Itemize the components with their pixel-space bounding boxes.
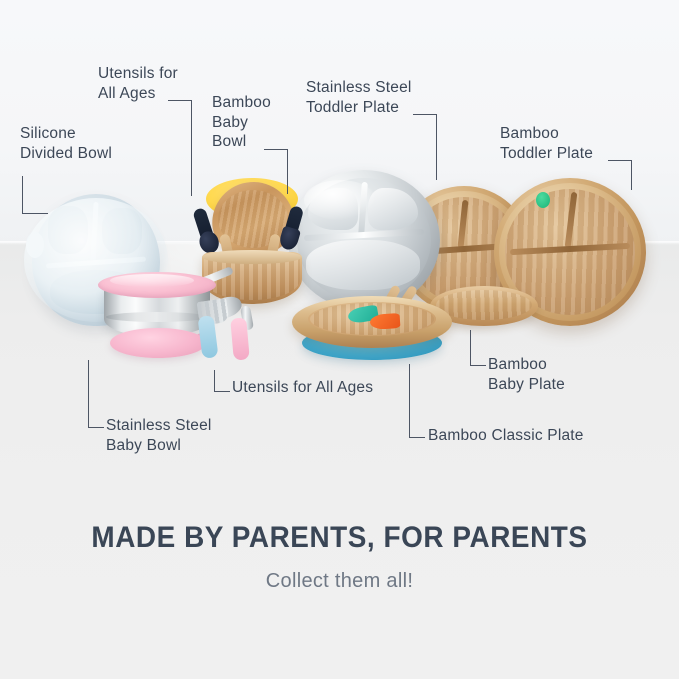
bamboo-bowl-rim [202, 250, 302, 264]
label-utensils-all-ages-top: Utensils for All Ages [98, 64, 178, 103]
leader-bamboo-classic-plate [409, 364, 425, 438]
leader-bamboo-toddler-plate [608, 160, 632, 190]
plate-highlight [304, 180, 376, 220]
leader-utensils-all-ages-bottom [214, 370, 230, 392]
lid-highlight [110, 274, 194, 287]
leader-stainless-steel-toddler-plate [413, 114, 437, 180]
label-silicone-divided-bowl: Silicone Divided Bowl [20, 124, 112, 163]
label-bamboo-classic-plate: Bamboo Classic Plate [428, 426, 584, 446]
label-bamboo-baby-bowl: Bamboo Baby Bowl [212, 93, 271, 152]
orange-spoon-tip [370, 313, 401, 330]
plate-compartment-bottom [306, 240, 420, 290]
label-utensils-all-ages-bottom: Utensils for All Ages [232, 378, 373, 398]
product-utensils-for-all-ages [198, 300, 310, 362]
bowl-steel-reflection [106, 312, 208, 322]
footer-headline: MADE BY PARENTS, FOR PARENTS [24, 521, 655, 555]
product-infographic: Silicone Divided Bowl Utensils for All A… [0, 0, 679, 679]
leader-silicone-divided-bowl [22, 176, 48, 214]
label-stainless-steel-baby-bowl: Stainless Steel Baby Bowl [106, 416, 212, 455]
leader-utensils-all-ages-top [168, 100, 192, 196]
leader-stainless-steel-baby-bowl [88, 360, 104, 428]
green-silicone-tab [536, 192, 550, 208]
label-bamboo-toddler-plate: Bamboo Toddler Plate [500, 124, 593, 163]
label-stainless-steel-toddler-plate: Stainless Steel Toddler Plate [306, 78, 412, 117]
label-bamboo-baby-plate: Bamboo Baby Plate [488, 355, 565, 394]
product-bamboo-classic-plate [292, 296, 452, 364]
footer-subline: Collect them all! [0, 570, 679, 593]
leader-bamboo-baby-plate [470, 330, 486, 366]
leader-bamboo-baby-bowl [264, 149, 288, 194]
pink-suction-base [110, 328, 206, 358]
